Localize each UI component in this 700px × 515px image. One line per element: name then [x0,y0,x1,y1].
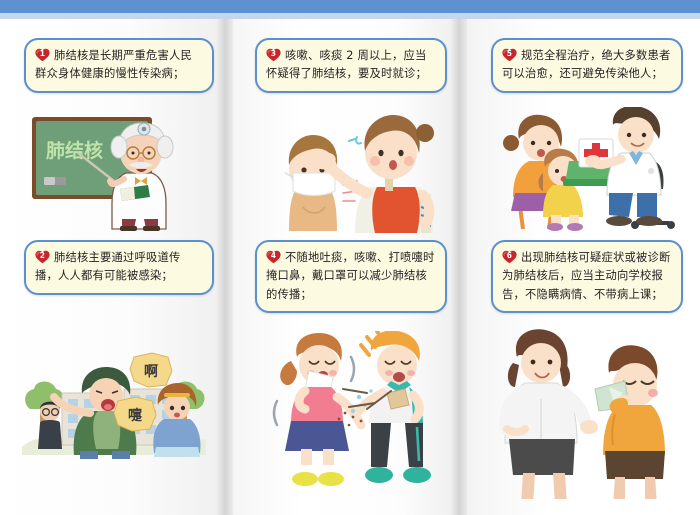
children-coughing-illustration [247,331,453,491]
panel-left: 1 肺结核是长期严重危害人民群众身体健康的慢性传染病； 肺结核 [0,19,233,515]
doctor-consultation-illustration [485,107,687,232]
callout-1-text: 肺结核是长期严重危害人民群众身体健康的慢性传染病； [35,49,192,80]
heart-badge-icon: 3 [266,48,281,62]
callout-1-number: 1 [35,48,50,61]
svg-text:啊: 啊 [144,364,158,380]
callout-2-number: 2 [35,250,50,263]
top-blue-band [0,0,700,13]
callout-4-text: 不随地吐痰，咳嗽、打喷嚏时掩口鼻，戴口罩可以减少肺结核的传播； [266,251,434,301]
callout-3-number: 3 [266,48,281,61]
panel-right: 5 规范全程治疗，绝大多数患者可以治愈，还可避免传染他人； [467,19,700,515]
callout-1: 1 肺结核是长期严重危害人民群众身体健康的慢性传染病； [24,38,214,93]
top-light-blue-band [0,13,700,19]
callout-6: 6 出现肺结核可疑症状或被诊断为肺结核后，应当主动向学校报告，不隐瞒病情、不带病… [491,240,683,313]
callout-3-text: 咳嗽、咳痰 2 周以上，应当怀疑得了肺结核，要及时就诊； [266,49,427,80]
callout-3: 3 咳嗽、咳痰 2 周以上，应当怀疑得了肺结核，要及时就诊； [255,38,447,93]
callout-4-number: 4 [266,250,281,263]
panel-group: 1 肺结核是长期严重危害人民群众身体健康的慢性传染病； 肺结核 [0,0,700,515]
svg-text:嚏: 嚏 [128,407,143,424]
heart-badge-icon: 2 [35,250,50,264]
professor-blackboard-illustration: 肺结核 [16,111,221,233]
mother-checking-child-fever-illustration [251,107,451,235]
man-sneezing-crowd-illustration: 啊 嚏 [6,351,228,461]
callout-5: 5 规范全程治疗，绝大多数患者可以治愈，还可避免传染他人； [491,38,683,93]
callout-6-number: 6 [502,250,517,263]
nurse-and-boy-illustration [473,329,693,499]
callout-2-text: 肺结核主要通过呼吸道传播，人人都有可能被感染； [35,251,180,282]
heart-badge-icon: 6 [502,250,517,264]
callout-5-number: 5 [502,48,517,61]
callout-5-text: 规范全程治疗，绝大多数患者可以治愈，还可避免传染他人； [502,49,670,80]
poster-canvas: 1 肺结核是长期严重危害人民群众身体健康的慢性传染病； 肺结核 [0,0,700,515]
callout-4: 4 不随地吐痰，咳嗽、打喷嚏时掩口鼻，戴口罩可以减少肺结核的传播； [255,240,447,313]
callout-6-text: 出现肺结核可疑症状或被诊断为肺结核后，应当主动向学校报告，不隐瞒病情、不带病上课… [502,251,670,301]
panel-middle: 3 咳嗽、咳痰 2 周以上，应当怀疑得了肺结核，要及时就诊； [233,19,467,515]
heart-badge-icon: 4 [266,250,281,264]
callout-2: 2 肺结核主要通过呼吸道传播，人人都有可能被感染； [24,240,214,295]
blackboard-text: 肺结核 [46,139,103,162]
heart-badge-icon: 1 [35,48,50,62]
heart-badge-icon: 5 [502,48,517,62]
